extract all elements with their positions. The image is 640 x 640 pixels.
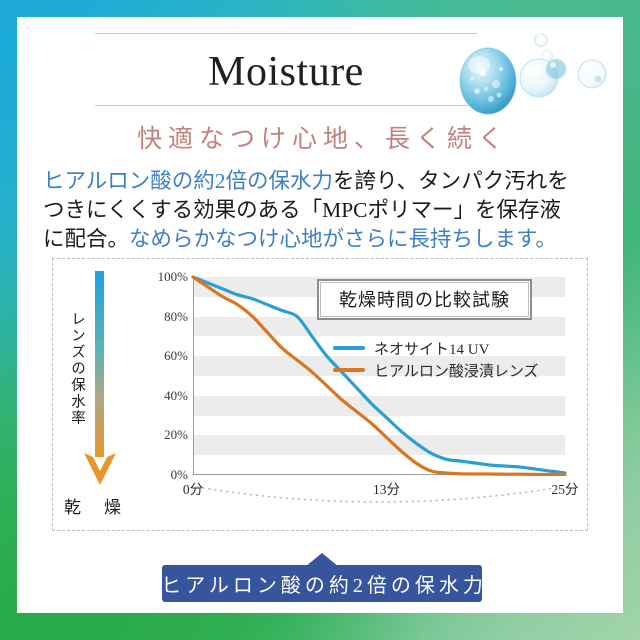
legend-item: ヒアルロン酸浸漬レンズ <box>333 359 539 381</box>
legend-label: ネオサイト14 UV <box>374 338 489 359</box>
banner-area: ヒアルロン酸の約2倍の保水力 <box>17 553 623 603</box>
body-rest-1: を誇り、タンパク汚れを <box>333 169 569 193</box>
legend-item: ネオサイト14 UV <box>333 337 539 359</box>
down-arrow-gradient-icon <box>83 271 117 493</box>
dry-label: 乾 燥 <box>63 493 125 518</box>
page-title: Moisture <box>95 43 477 101</box>
chart-title-box: 乾燥時間の比較試験 <box>317 279 532 320</box>
y-tick-label: 60% <box>164 348 188 364</box>
y-tick-label: 100% <box>158 269 188 285</box>
content-card: Moisture <box>17 17 623 613</box>
water-droplet-icon <box>455 29 615 121</box>
chart-panel: レンズの保水率 乾 燥 0%20%40%60%80%100% 0分13分25分 <box>52 258 588 531</box>
plot-area: 0%20%40%60%80%100% 0分13分25分 乾燥時間の比較試験 ネオ <box>149 271 573 499</box>
poster-background: Moisture <box>0 0 640 640</box>
legend-swatch-blue <box>333 346 365 350</box>
x-axis-connector-dots <box>193 483 565 517</box>
body-line-1: ヒアルロン酸の約2倍の保水力を誇り、タンパク汚れを <box>43 167 603 196</box>
body-copy: ヒアルロン酸の約2倍の保水力を誇り、タンパク汚れを つきにくくする効果のある「M… <box>43 167 603 254</box>
banner-text: ヒアルロン酸の約2倍の保水力 <box>157 569 487 598</box>
body-line-2: つきにくくする効果のある「MPCポリマー」を保存液 <box>43 196 603 225</box>
body-highlight-3: なめらかなつけ心地がさらに長持ちします。 <box>129 227 557 251</box>
highlight-banner: ヒアルロン酸の約2倍の保水力 <box>162 565 482 602</box>
y-tick-label: 80% <box>164 309 188 325</box>
body-prefix-3: に配合。 <box>43 227 129 251</box>
body-highlight-1: ヒアルロン酸の約2倍の保水力 <box>43 169 333 193</box>
header: Moisture <box>17 17 623 121</box>
legend-swatch-orange <box>333 368 365 372</box>
axis-caption-block: レンズの保水率 乾 燥 <box>61 267 123 525</box>
header-rule-bottom <box>95 105 477 106</box>
header-rule-top <box>95 33 477 34</box>
body-line-3: に配合。なめらかなつけ心地がさらに長持ちします。 <box>43 225 603 254</box>
y-axis-label: レンズの保水率 <box>67 311 87 427</box>
subtitle: 快適なつけ心地、長く続く <box>17 121 623 159</box>
y-tick-label: 20% <box>164 427 188 443</box>
legend-label: ヒアルロン酸浸漬レンズ <box>374 360 539 381</box>
chart-legend: ネオサイト14 UV ヒアルロン酸浸漬レンズ <box>333 337 539 381</box>
y-tick-label: 40% <box>164 388 188 404</box>
